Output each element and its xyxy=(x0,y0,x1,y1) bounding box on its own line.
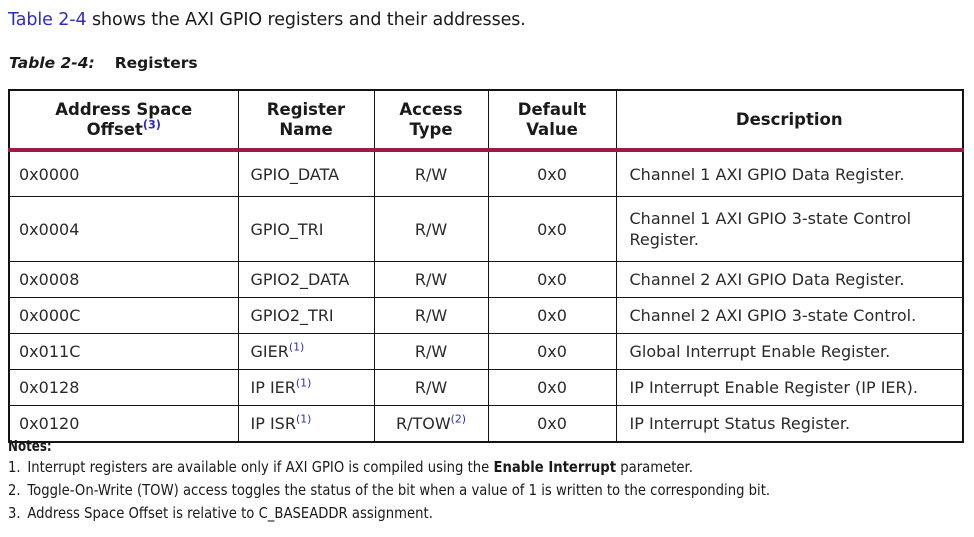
cell-default-value: 0x0 xyxy=(488,262,616,298)
footnote-marker[interactable]: (1) xyxy=(289,341,304,354)
column-header-line2: Value xyxy=(526,120,578,139)
table-row: 0x011C GIER(1) R/W 0x0 Global Interrupt … xyxy=(9,334,963,370)
column-header-register-name: Register Name xyxy=(238,90,374,150)
note-number: 3. xyxy=(8,502,27,525)
cell-access-type: R/W xyxy=(374,262,488,298)
column-header-line1: Register xyxy=(267,100,345,119)
cell-register-name: GIER(1) xyxy=(238,334,374,370)
column-header-description: Description xyxy=(616,90,963,150)
cell-default-value: 0x0 xyxy=(488,298,616,334)
access-type-text: R/W xyxy=(415,378,447,397)
cell-default-value: 0x0 xyxy=(488,370,616,406)
cell-default-value: 0x0 xyxy=(488,197,616,262)
notes-heading: Notes: xyxy=(8,437,853,456)
footnote-marker[interactable]: (1) xyxy=(296,377,311,390)
column-header-default-value: Default Value xyxy=(488,90,616,150)
column-header-line2: Name xyxy=(279,120,332,139)
column-header-line2: Offset xyxy=(87,120,143,139)
cell-register-name: GPIO_TRI xyxy=(238,197,374,262)
table-caption-title: Registers xyxy=(115,54,198,72)
cell-description: Global Interrupt Enable Register. xyxy=(616,334,963,370)
register-name-text: IP IER xyxy=(251,378,296,397)
cell-access-type: R/W xyxy=(374,298,488,334)
column-header-line2: Type xyxy=(409,120,452,139)
access-type-text: R/W xyxy=(415,270,447,289)
note-text-pre: Interrupt registers are available only i… xyxy=(27,458,493,476)
table-row: 0x0004 GPIO_TRI R/W 0x0 Channel 1 AXI GP… xyxy=(9,197,963,262)
table-header-row: Address Space Offset(3) Register Name Ac… xyxy=(9,90,963,150)
intro-paragraph-text: shows the AXI GPIO registers and their a… xyxy=(87,10,526,30)
note-item: 2.Toggle-On-Write (TOW) access toggles t… xyxy=(8,479,853,502)
table-row: 0x0008 GPIO2_DATA R/W 0x0 Channel 2 AXI … xyxy=(9,262,963,298)
table-header-row-group: Address Space Offset(3) Register Name Ac… xyxy=(9,90,963,150)
note-item: 3.Address Space Offset is relative to C_… xyxy=(8,502,853,525)
register-name-text: GPIO2_TRI xyxy=(251,306,334,325)
cell-description: IP Interrupt Enable Register (IP IER). xyxy=(616,370,963,406)
note-text-post: parameter. xyxy=(616,458,693,476)
cell-description: Channel 1 AXI GPIO Data Register. xyxy=(616,150,963,197)
cell-description: Channel 2 AXI GPIO Data Register. xyxy=(616,262,963,298)
cell-access-type: R/W xyxy=(374,197,488,262)
cell-address-space-offset: 0x0000 xyxy=(9,150,238,197)
column-header-line1: Access xyxy=(399,100,462,119)
cell-default-value: 0x0 xyxy=(488,334,616,370)
footnote-marker-3[interactable]: (3) xyxy=(143,118,161,131)
registers-table: Address Space Offset(3) Register Name Ac… xyxy=(8,89,964,443)
footnote-marker[interactable]: (2) xyxy=(451,413,466,426)
note-text-pre: Toggle-On-Write (TOW) access toggles the… xyxy=(27,481,770,499)
intro-paragraph: Table 2-4 shows the AXI GPIO registers a… xyxy=(8,8,526,32)
cell-register-name: GPIO2_TRI xyxy=(238,298,374,334)
cell-address-space-offset: 0x0004 xyxy=(9,197,238,262)
cell-address-space-offset: 0x000C xyxy=(9,298,238,334)
cell-address-space-offset: 0x0008 xyxy=(9,262,238,298)
register-name-text: GIER xyxy=(251,342,289,361)
table-caption-number: Table 2-4: xyxy=(9,54,95,72)
table-cross-reference-link[interactable]: Table 2-4 xyxy=(8,10,87,30)
column-header-address-space-offset: Address Space Offset(3) xyxy=(9,90,238,150)
note-item: 1.Interrupt registers are available only… xyxy=(8,456,853,479)
table-row: 0x0000 GPIO_DATA R/W 0x0 Channel 1 AXI G… xyxy=(9,150,963,197)
cell-access-type: R/W xyxy=(374,370,488,406)
column-header-line1: Address Space xyxy=(55,100,192,119)
column-header-line1: Description xyxy=(736,110,843,129)
access-type-text: R/W xyxy=(415,220,447,239)
access-type-text: R/W xyxy=(415,342,447,361)
footnote-marker[interactable]: (1) xyxy=(296,413,311,426)
cell-register-name: GPIO_DATA xyxy=(238,150,374,197)
cell-access-type: R/W xyxy=(374,150,488,197)
column-header-access-type: Access Type xyxy=(374,90,488,150)
table-row: 0x000C GPIO2_TRI R/W 0x0 Channel 2 AXI G… xyxy=(9,298,963,334)
column-header-line1: Default xyxy=(518,100,587,119)
table-row: 0x0128 IP IER(1) R/W 0x0 IP Interrupt En… xyxy=(9,370,963,406)
notes-section: Notes: 1.Interrupt registers are availab… xyxy=(8,437,968,525)
table-caption: Table 2-4:Registers xyxy=(9,53,198,73)
note-text-pre: Address Space Offset is relative to C_BA… xyxy=(27,504,433,522)
access-type-text: R/TOW xyxy=(396,414,451,433)
cell-access-type: R/W xyxy=(374,334,488,370)
cell-register-name: IP IER(1) xyxy=(238,370,374,406)
note-number: 2. xyxy=(8,479,27,502)
access-type-text: R/W xyxy=(415,165,447,184)
note-number: 1. xyxy=(8,456,27,479)
register-name-text: GPIO2_DATA xyxy=(251,270,350,289)
note-text-bold: Enable Interrupt xyxy=(493,458,616,476)
register-name-text: GPIO_DATA xyxy=(251,165,340,184)
cell-register-name: GPIO2_DATA xyxy=(238,262,374,298)
access-type-text: R/W xyxy=(415,306,447,325)
cell-description: Channel 2 AXI GPIO 3-state Control. xyxy=(616,298,963,334)
register-name-text: IP ISR xyxy=(251,414,296,433)
cell-description: Channel 1 AXI GPIO 3-state Control Regis… xyxy=(616,197,963,262)
cell-default-value: 0x0 xyxy=(488,150,616,197)
cell-address-space-offset: 0x011C xyxy=(9,334,238,370)
table-body: 0x0000 GPIO_DATA R/W 0x0 Channel 1 AXI G… xyxy=(9,150,963,442)
cell-address-space-offset: 0x0128 xyxy=(9,370,238,406)
register-name-text: GPIO_TRI xyxy=(251,220,324,239)
